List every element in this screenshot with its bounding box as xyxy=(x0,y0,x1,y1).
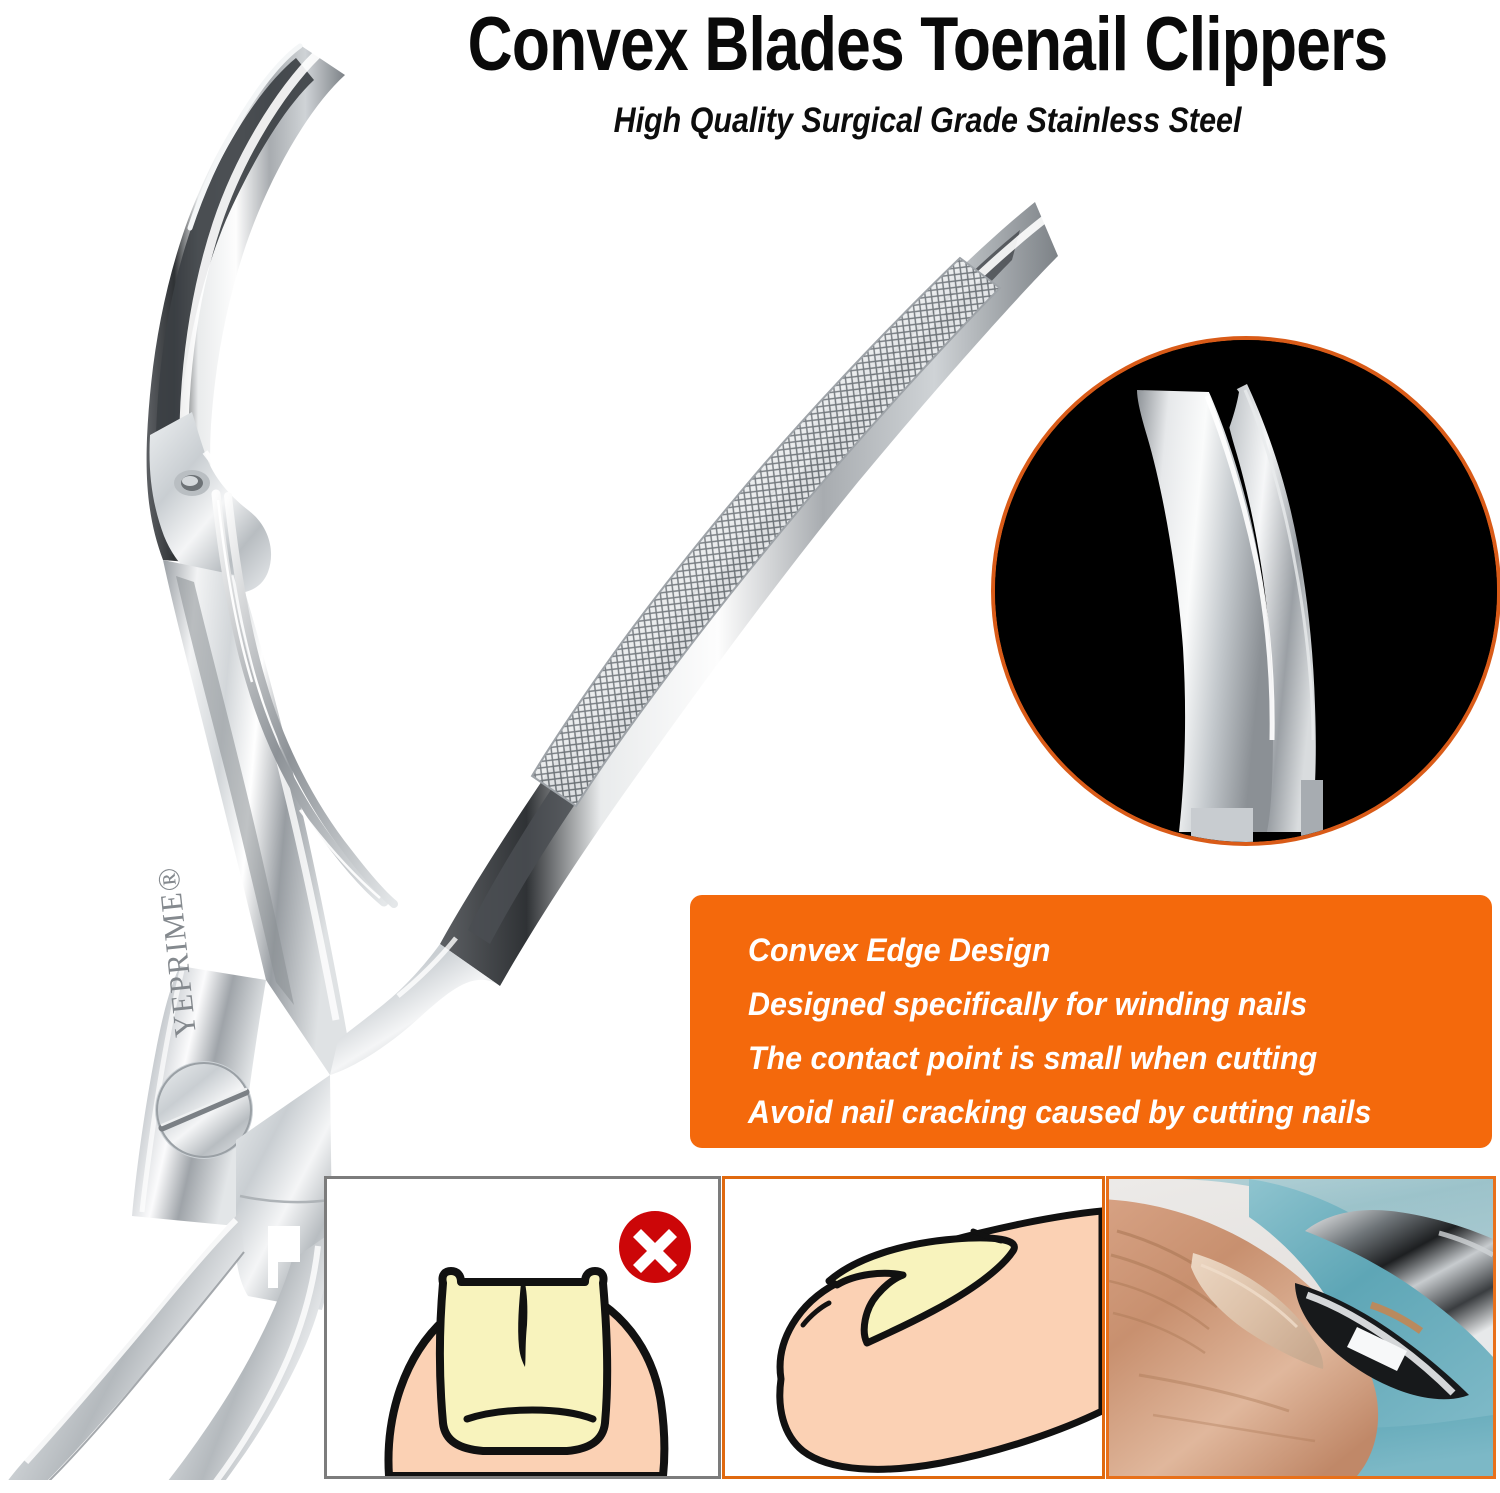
panel-cracked-nail xyxy=(324,1176,721,1479)
product-marketing-image: Convex Blades Toenail Clippers High Qual… xyxy=(0,0,1500,1493)
blade-closeup-circle xyxy=(995,340,1497,842)
svg-text:YEPRIME®: YEPRIME® xyxy=(150,865,203,1039)
feature-line-4: Avoid nail cracking caused by cutting na… xyxy=(748,1085,1455,1139)
feature-line-2: Designed specifically for winding nails xyxy=(748,977,1455,1031)
x-mark-badge xyxy=(619,1211,691,1283)
feature-line-1: Convex Edge Design xyxy=(748,923,1455,977)
feature-callout-box: Convex Edge Design Designed specifically… xyxy=(690,895,1492,1148)
panel-ingrown-nail xyxy=(722,1176,1105,1479)
panel-clipping-photo xyxy=(1106,1176,1496,1479)
feature-line-3: The contact point is small when cutting xyxy=(748,1031,1455,1085)
illustration-panel-row xyxy=(324,1176,1496,1479)
